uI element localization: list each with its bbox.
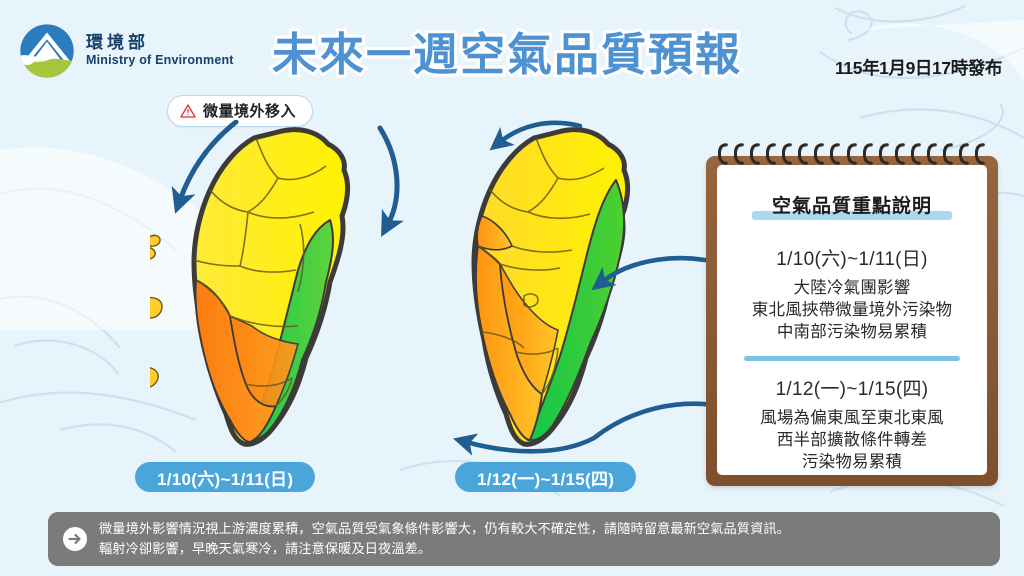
- segment-1-line-3: 中南部污染物易累積: [717, 322, 987, 344]
- offshore-islands-1: [150, 235, 162, 388]
- mountain-circle-logo-icon: [18, 22, 76, 80]
- map-1-date-label: 1/10(六)~1/11(日): [135, 462, 315, 492]
- segment-2-line-3: 污染物易累積: [717, 452, 987, 474]
- segment-2-line-1: 風場為偏東風至東北東風: [717, 408, 987, 430]
- warning-triangle-icon: [180, 103, 196, 119]
- page-title: 未來一週空氣品質預報: [272, 18, 742, 83]
- footer-line-2: 輻射冷卻影響，早晚天氣寒冷，請注意保暖及日夜溫差。: [99, 539, 790, 559]
- arrow-right-circle-icon: [62, 526, 88, 552]
- taiwan-body-2: [474, 130, 628, 445]
- segment-2-line-2: 西半部擴散條件轉差: [717, 430, 987, 452]
- map-forecast-1: [150, 120, 450, 460]
- infographic-page: 環境部 Ministry of Environment 未來一週空氣品質預報 1…: [0, 0, 1024, 576]
- notes-title: 空氣品質重點說明: [717, 191, 987, 218]
- segment-1-line-1: 大陸冷氣團影響: [717, 278, 987, 300]
- footer-line-1: 微量境外影響情況視上游濃度累積，空氣品質受氣象條件影響大，仍有較大不確定性，請隨…: [99, 519, 790, 539]
- notes-page: 空氣品質重點說明 1/10(六)~1/11(日) 大陸冷氣團影響 東北風挾帶微量…: [717, 165, 987, 475]
- notes-heading: 空氣品質重點說明: [717, 191, 987, 218]
- notes-clipboard: 空氣品質重點說明 1/10(六)~1/11(日) 大陸冷氣團影響 東北風挾帶微量…: [706, 156, 998, 486]
- foreign-inflow-label: 微量境外移入: [203, 100, 296, 121]
- logo-title-en: Ministry of Environment: [86, 54, 234, 68]
- segment-2-range: 1/12(一)~1/15(四): [717, 374, 987, 401]
- map-2-date-label: 1/12(一)~1/15(四): [455, 462, 636, 492]
- notes-segment-1: 1/10(六)~1/11(日) 大陸冷氣團影響 東北風挾帶微量境外污染物 中南部…: [717, 244, 987, 343]
- segment-1-range: 1/10(六)~1/11(日): [717, 244, 987, 271]
- notes-segment-2: 1/12(一)~1/15(四) 風場為偏東風至東北東風 西半部擴散條件轉差 污染…: [717, 374, 987, 473]
- logo-title-zh: 環境部: [86, 34, 234, 53]
- notes-divider: [744, 356, 960, 361]
- segment-1-line-2: 東北風挾帶微量境外污染物: [717, 300, 987, 322]
- map-forecast-2: [430, 120, 730, 460]
- taiwan-body-1: [194, 130, 348, 445]
- ministry-logo: 環境部 Ministry of Environment: [18, 22, 234, 80]
- issue-date: 115年1月9日17時發布: [835, 55, 1002, 80]
- footer-note: 微量境外影響情況視上游濃度累積，空氣品質受氣象條件影響大，仍有較大不確定性，請隨…: [48, 512, 1000, 566]
